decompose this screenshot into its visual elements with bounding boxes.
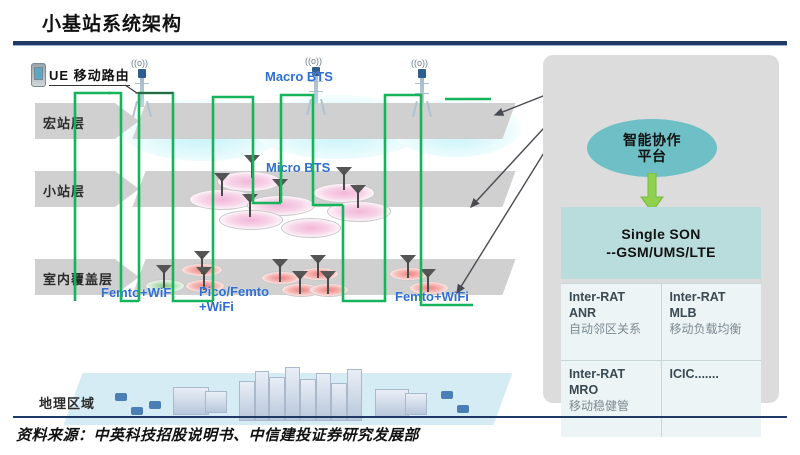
- table-row: Inter-RAT MRO 移动稳健管 ICIC.......: [561, 360, 761, 437]
- son-title: Single SON: [621, 226, 700, 242]
- feature-cell-mlb: Inter-RAT MLB 移动负载均衡: [661, 284, 762, 360]
- source-note: 资料来源：中英科技招股说明书、中信建投证券研究发展部: [16, 424, 419, 445]
- page-title: 小基站系统架构: [42, 9, 182, 36]
- son-feature-table: Inter-RAT ANR 自动邻区关系 Inter-RAT MLB 移动负载均…: [561, 283, 761, 437]
- feature-cell-mro: Inter-RAT MRO 移动稳健管: [561, 361, 661, 437]
- son-subtitle: --GSM/UMS/LTE: [606, 244, 715, 260]
- feature-cell-anr: Inter-RAT ANR 自动邻区关系: [561, 284, 661, 360]
- content-frame: 宏站层 ((o)) ((o)) ((o)) Macro BTS 小站层: [13, 55, 787, 410]
- intelligent-collaboration-platform: 智能协作平台: [587, 119, 717, 177]
- feature-cell-icic: ICIC.......: [661, 361, 762, 437]
- source-rule: [13, 416, 787, 418]
- title-rule-thin: [13, 45, 787, 46]
- single-son-box: Single SON --GSM/UMS/LTE: [561, 207, 761, 279]
- table-row: Inter-RAT ANR 自动邻区关系 Inter-RAT MLB 移动负载均…: [561, 283, 761, 360]
